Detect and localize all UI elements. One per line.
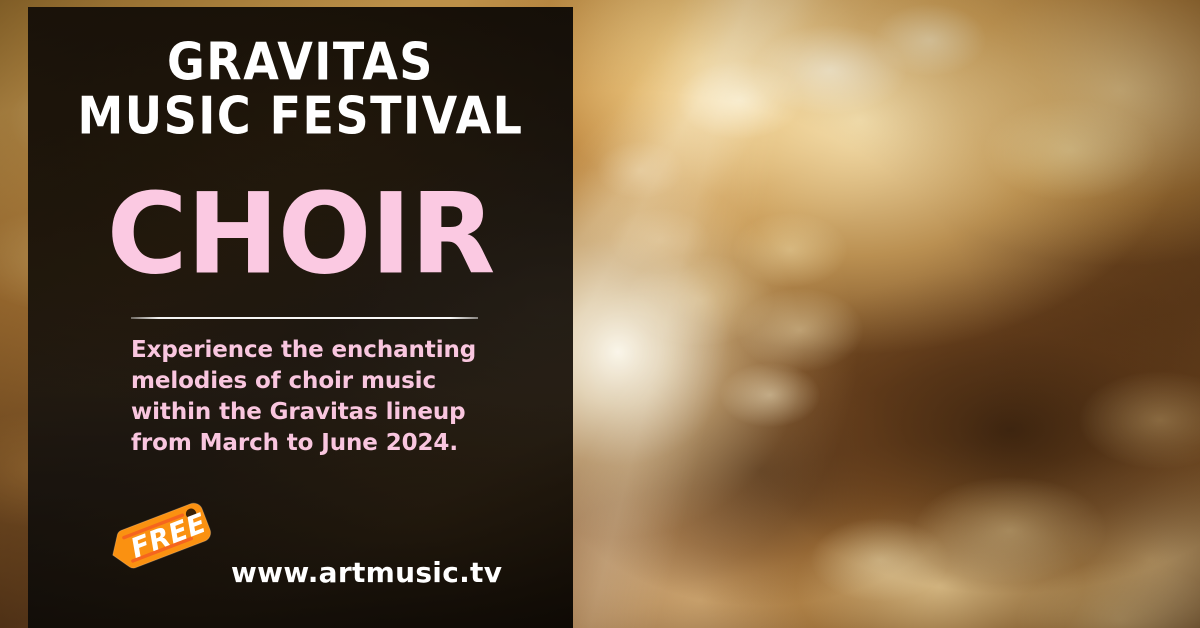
- description-line-2: melodies of choir music: [131, 366, 531, 397]
- content-panel-inner: GRAVITAS MUSIC FESTIVAL CHOIR Experience…: [28, 7, 573, 628]
- content-panel: GRAVITAS MUSIC FESTIVAL CHOIR Experience…: [28, 7, 573, 628]
- description-text: Experience the enchanting melodies of ch…: [131, 335, 531, 459]
- description-line-3: within the Gravitas lineup: [131, 397, 531, 428]
- description-line-1: Experience the enchanting: [131, 335, 531, 366]
- festival-title: GRAVITAS MUSIC FESTIVAL: [28, 38, 573, 135]
- free-badge: FREE: [104, 489, 226, 581]
- festival-title-line-1: GRAVITAS: [28, 38, 573, 87]
- poster-canvas: GRAVITAS MUSIC FESTIVAL CHOIR Experience…: [0, 0, 1200, 628]
- festival-title-line-2: MUSIC FESTIVAL: [28, 92, 573, 141]
- headline-choir: CHOIR: [28, 179, 573, 290]
- divider-rule: [131, 317, 478, 319]
- website-url: www.artmusic.tv: [231, 556, 502, 589]
- description-line-4: from March to June 2024.: [131, 428, 531, 459]
